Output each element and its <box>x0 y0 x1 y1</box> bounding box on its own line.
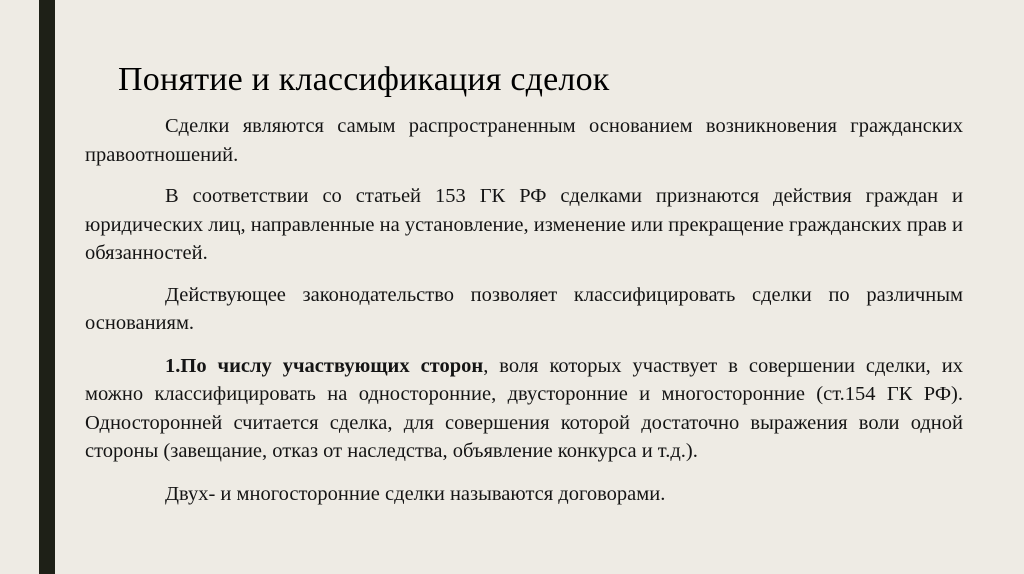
body-paragraph-3: Действующее законодательство позволяет к… <box>85 281 963 338</box>
body-paragraph-2: В соответствии со статьей 153 ГК РФ сдел… <box>85 182 963 268</box>
page-title: Понятие и классификация сделок <box>118 59 978 101</box>
classification-criterion-label: 1.По числу участвующих сторон <box>165 355 483 377</box>
body-paragraph-4: 1.По числу участвующих сторон, воля кото… <box>85 352 963 466</box>
body-paragraph-1: Сделки являются самым распространенным о… <box>85 112 963 169</box>
presentation-slide: Понятие и классификация сделок Сделки яв… <box>0 0 1024 574</box>
slide-body: Сделки являются самым распространенным о… <box>85 112 963 508</box>
body-paragraph-5: Двух- и многосторонние сделки называются… <box>85 480 963 509</box>
left-accent-bar <box>39 0 55 574</box>
